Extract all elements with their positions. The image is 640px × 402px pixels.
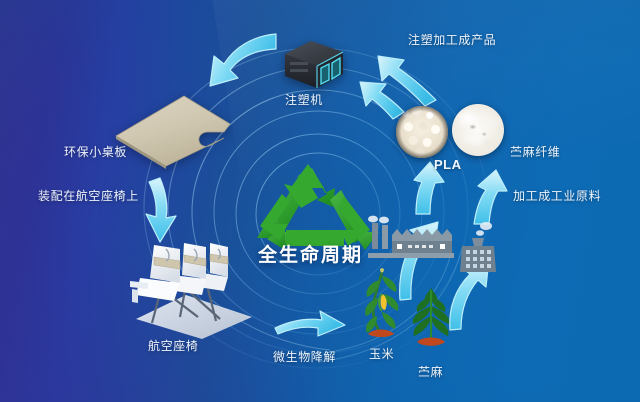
label-ramie-fiber: 苎麻纤维 <box>510 146 560 159</box>
ramie-plant-icon <box>405 284 457 350</box>
center-title: 全生命周期 <box>258 240 363 267</box>
label-tray-table: 环保小桌板 <box>64 146 127 159</box>
label-aircraft-seat: 航空座椅 <box>148 340 198 353</box>
label-step-assembled-on-seat: 装配在航空座椅上 <box>38 190 139 203</box>
arrow-seat-to-degrade <box>275 311 345 336</box>
label-ramie-plant: 苎麻 <box>418 366 443 379</box>
label-step-molded-product: 注塑加工成产品 <box>408 34 496 47</box>
aircraft-seat-icon <box>124 233 260 343</box>
ramie-fiber-photo <box>452 104 504 156</box>
tray-table-icon <box>112 92 234 170</box>
label-corn: 玉米 <box>369 348 394 361</box>
arrow-molding-to-tray <box>210 34 276 86</box>
pla-pellets-photo <box>396 106 448 158</box>
label-step-industrial-material: 加工成工业原料 <box>513 190 601 203</box>
label-injection-molding: 注塑机 <box>285 94 323 107</box>
arrow-plant-to-fiber <box>474 170 507 224</box>
infographic-canvas: 全生命周期 注塑机 环保小桌板 装配在航空座椅上 航空座椅 微生物降解 玉米 苎… <box>0 0 640 402</box>
corn-plant-icon <box>360 268 404 340</box>
label-pla: PLA <box>434 157 462 172</box>
label-step-microbial-degrade: 微生物降解 <box>273 351 336 364</box>
processing-plant-icon <box>450 220 506 278</box>
injection-molding-machine-icon <box>281 38 347 94</box>
factory-icon <box>364 215 458 267</box>
arrow-pla-to-molding <box>360 82 404 119</box>
